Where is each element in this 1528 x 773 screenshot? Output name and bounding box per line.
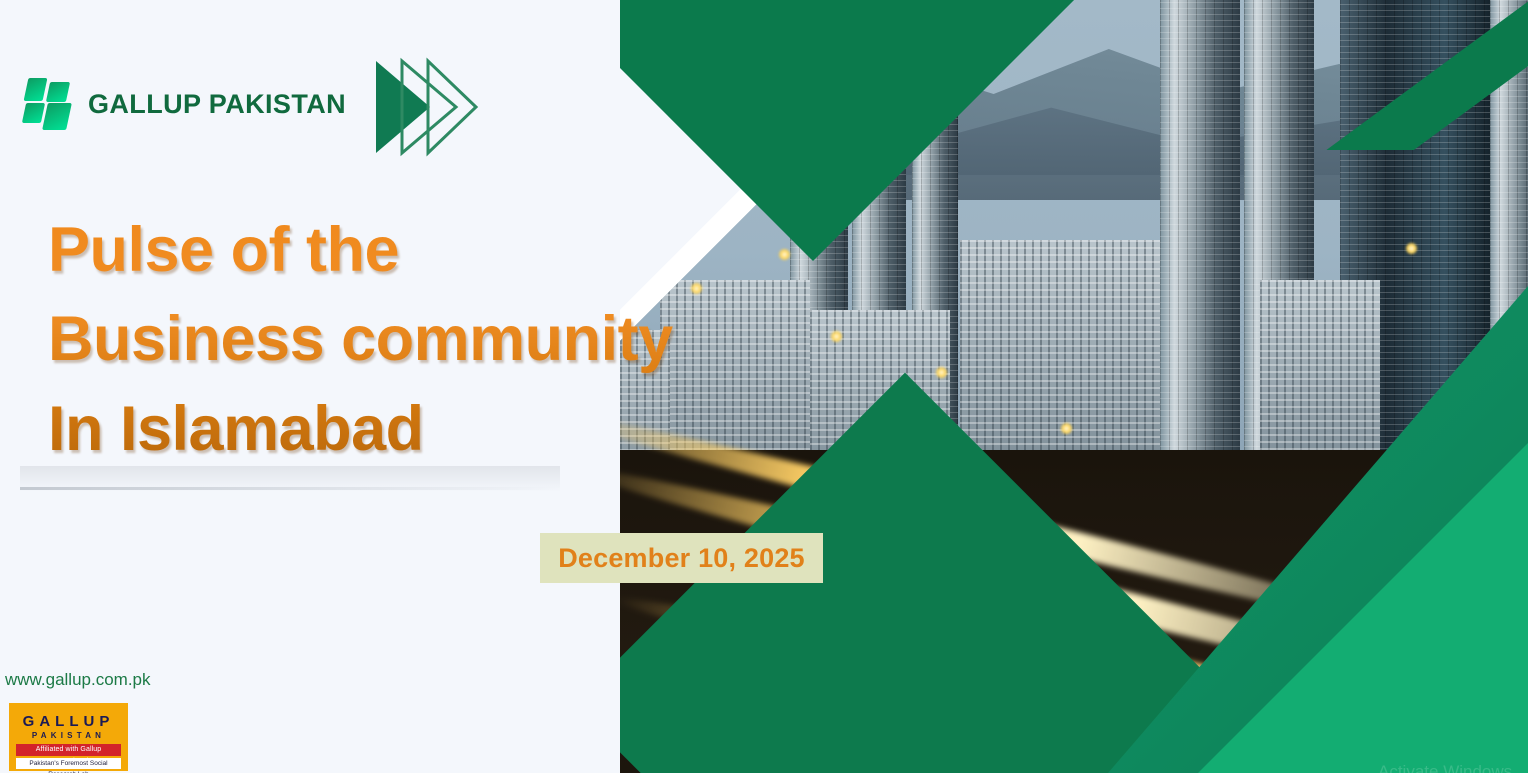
title-line-1: Pulse of the xyxy=(48,206,728,295)
page-title: Pulse of the Business community In Islam… xyxy=(48,206,728,474)
logo-tagline-text: Pakistan's Foremost Social Research Lab xyxy=(16,758,121,769)
website-link[interactable]: www.gallup.com.pk xyxy=(5,670,151,690)
photo-building xyxy=(960,240,1160,470)
presentation-slide: GALLUP PAKISTAN Pulse of the Business co… xyxy=(0,0,1528,773)
windows-activation-watermark: Activate Windows xyxy=(1378,762,1512,773)
photo-building xyxy=(1260,280,1380,470)
gallup-pinwheel-icon xyxy=(26,78,72,130)
brand-lockup: GALLUP PAKISTAN xyxy=(26,78,346,130)
logo-pakistan-text: PAKISTAN xyxy=(9,731,128,740)
slide-artwork xyxy=(620,0,1528,773)
title-underline xyxy=(20,487,560,490)
date-badge: December 10, 2025 xyxy=(540,533,823,583)
gallup-pakistan-logo: GALLUP PAKISTAN Affiliated with Gallup I… xyxy=(9,703,128,771)
brand-name: GALLUP PAKISTAN xyxy=(88,89,346,120)
photo-tower xyxy=(1160,0,1240,460)
logo-affiliation-text: Affiliated with Gallup International xyxy=(16,744,121,756)
title-line-3: In Islamabad xyxy=(48,385,728,474)
logo-gallup-text: GALLUP xyxy=(9,713,128,730)
triple-chevron-arrows-icon xyxy=(372,57,480,157)
title-line-2: Business community xyxy=(48,295,728,384)
